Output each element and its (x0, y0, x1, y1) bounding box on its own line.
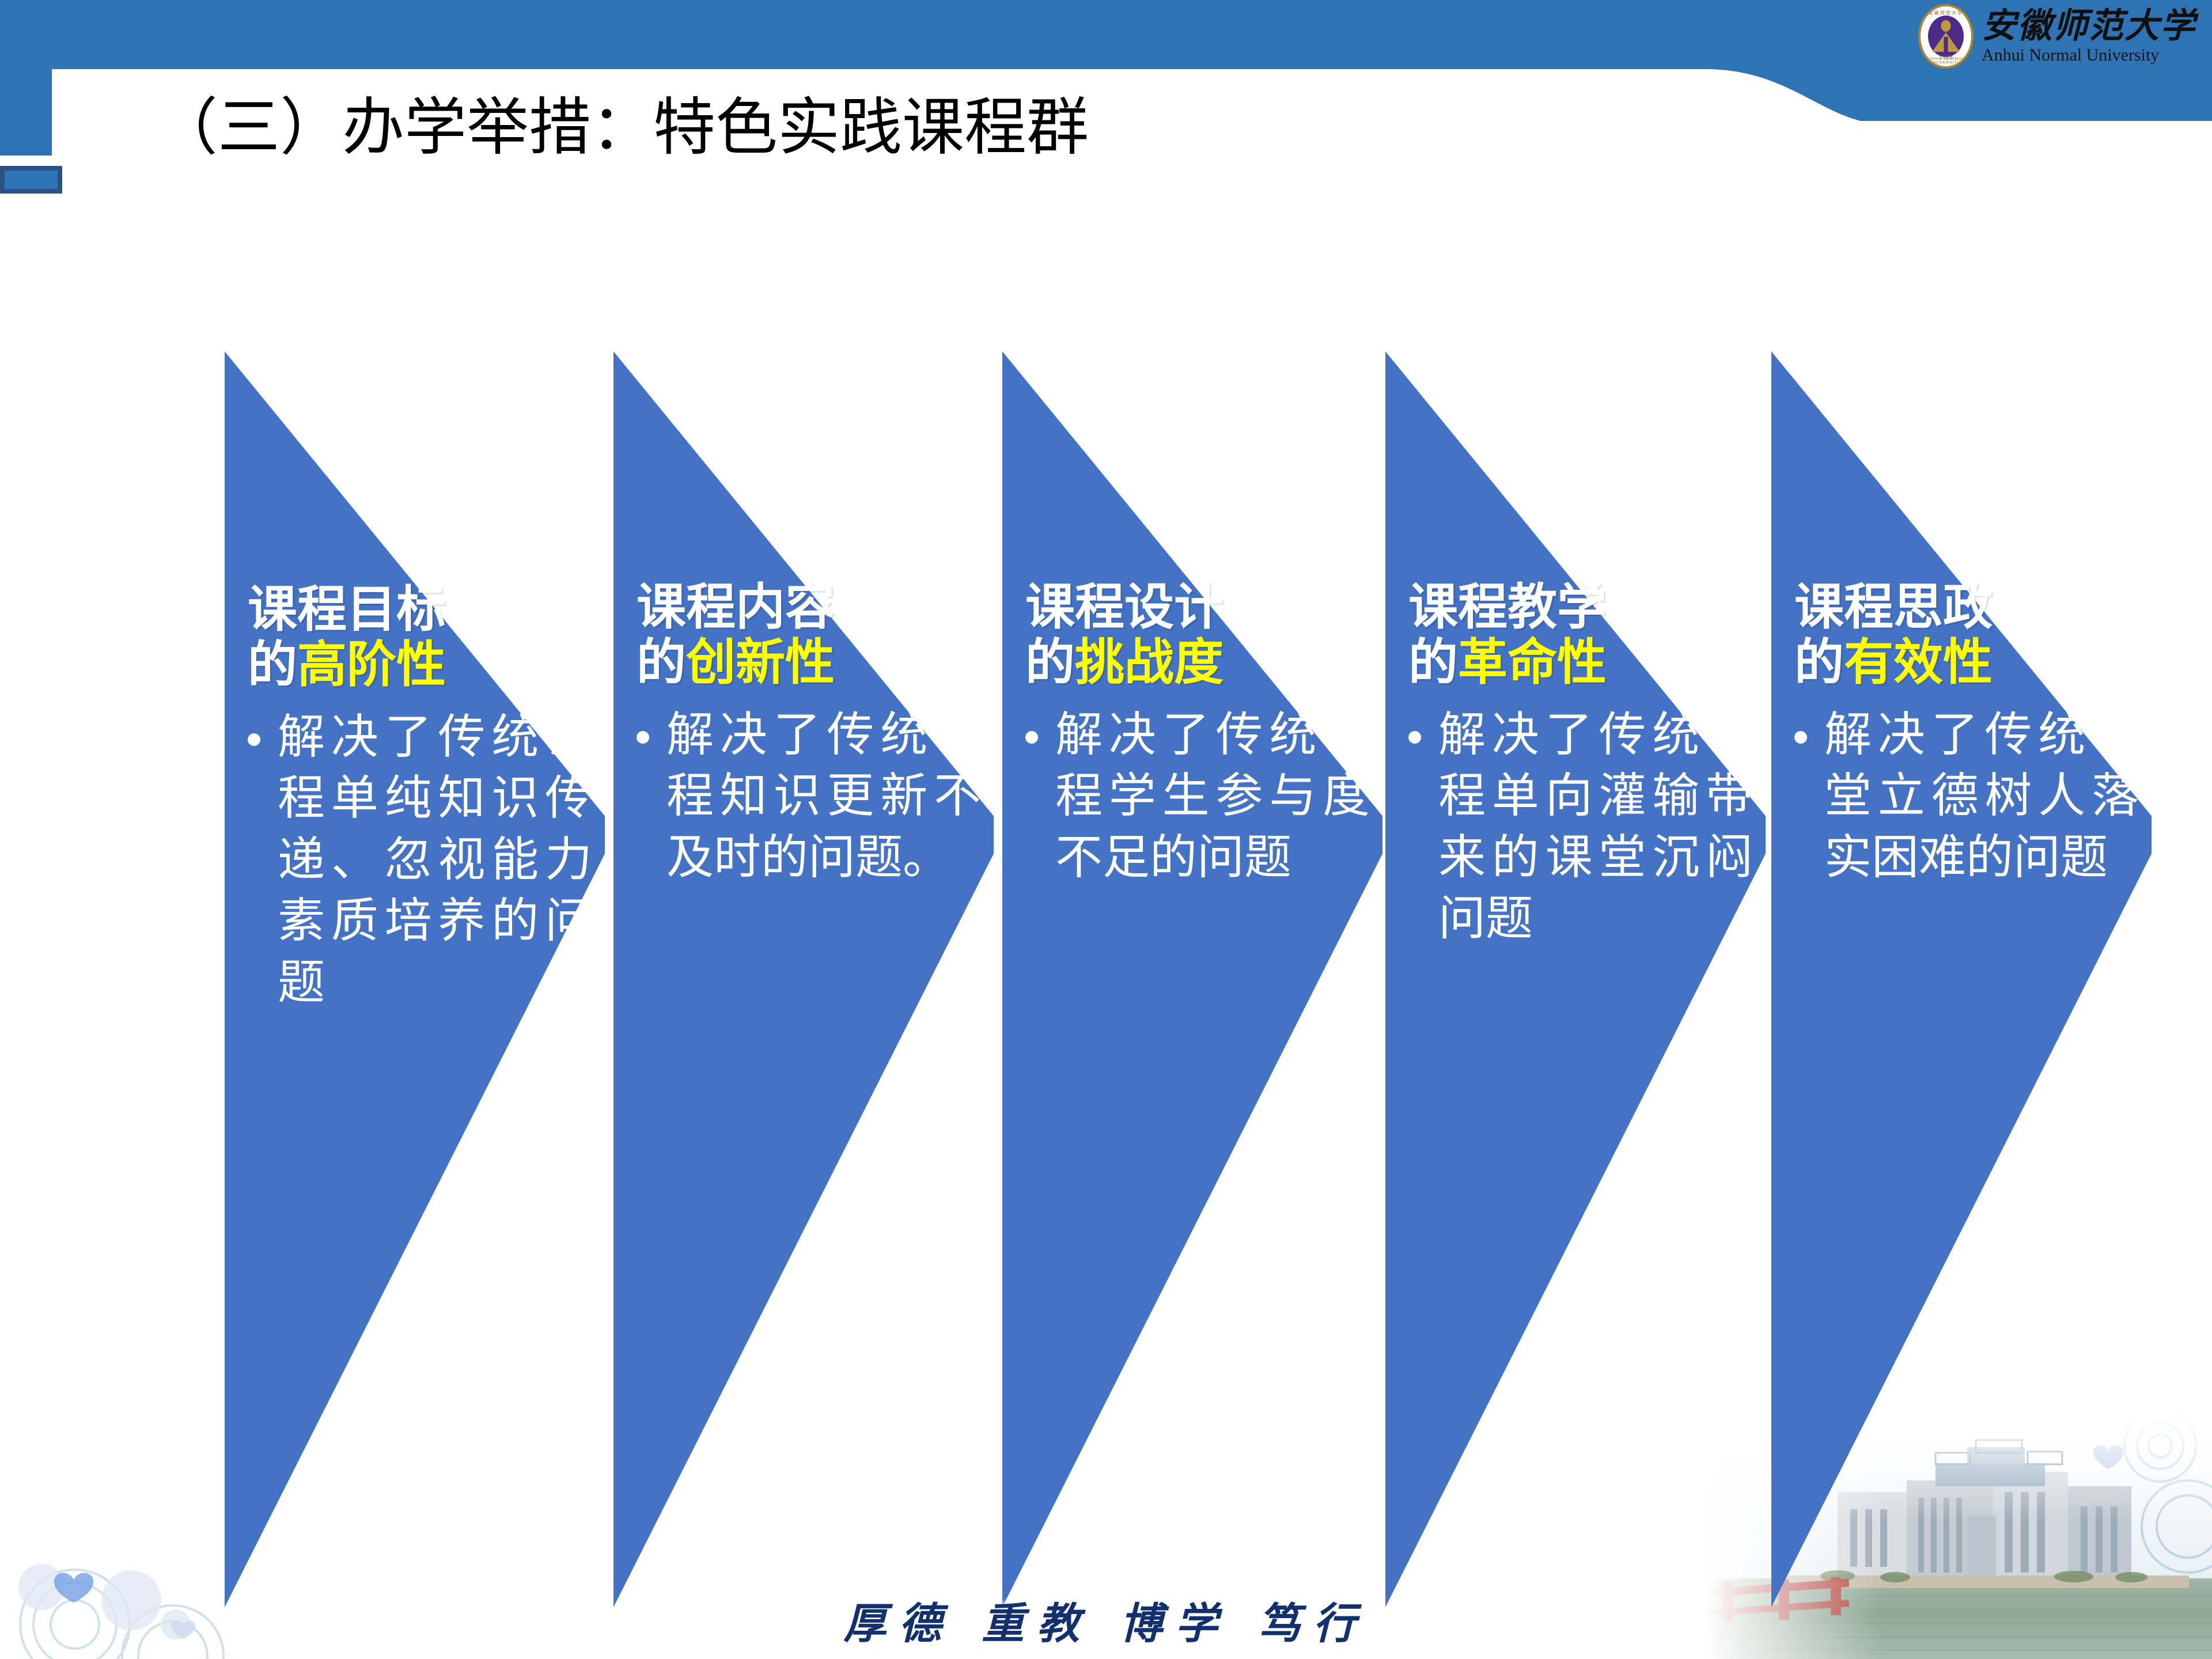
university-motto: 厚德 重教 博学 笃行 (0, 1589, 2212, 1651)
panel-2[interactable]: 课程内容的创新性 解决了传统课程知识更新不及时的问题。 (613, 351, 994, 1607)
panel-5-heading-highlight: 有效性 (1844, 634, 1993, 691)
panel-2-heading-prefix: 课程内容 (637, 578, 835, 636)
panel-3-bullet-text: 解决了传统课程学生参与度不足的问题 (1055, 704, 1370, 889)
logo-name-en: Anhui Normal University (1982, 47, 2196, 64)
panel-3-heading: 课程设计的挑战度 (1002, 579, 1382, 691)
university-crest-icon: 安徽师范大学 1928 ANHUI NORMAL UNIVERSITY (1918, 4, 1974, 69)
panel-4-heading: 课程教学的革命性 (1385, 579, 1766, 691)
panel-1-body: 解决了传统课程单纯知识传递、忽视能力素质培养的问题 (225, 707, 605, 1014)
panel-5-heading: 课程思政的有效性 (1771, 579, 2152, 691)
crest-figure-head-icon (1941, 20, 1951, 32)
slide-canvas: 安徽师范大学 1928 ANHUI NORMAL UNIVERSITY 安徽师范… (0, 0, 2212, 1659)
panel-4-body: 解决了传统课程单向灌输带来的课堂沉闷问题 (1385, 704, 1766, 950)
panel-5-bullet-text: 解决了传统课堂立德树人落实困难的问题 (1824, 704, 2139, 889)
panel-5-heading-lead: 的 (1794, 634, 1844, 691)
logo-text-block: 安徽师范大学 Anhui Normal University (1982, 9, 2196, 64)
panel-1-bullet-text: 解决了传统课程单纯知识传递、忽视能力素质培养的问题 (278, 707, 592, 1014)
panel-2-heading-lead: 的 (637, 634, 686, 691)
panel-2-body: 解决了传统课程知识更新不及时的问题。 (613, 704, 994, 889)
panel-1-heading-highlight: 高阶性 (297, 636, 446, 694)
panel-1-heading-prefix: 课程目标 (248, 581, 446, 638)
panel-4-heading-prefix: 课程教学 (1408, 578, 1607, 636)
panel-4-heading-highlight: 革命性 (1458, 634, 1607, 691)
panel-3-body: 解决了传统课程学生参与度不足的问题 (1002, 704, 1382, 889)
panel-5-body: 解决了传统课堂立德树人落实困难的问题 (1771, 704, 2152, 889)
panel-3-heading-lead: 的 (1025, 634, 1075, 691)
bullet-dot-icon (1794, 731, 1807, 744)
panel-5[interactable]: 课程思政的有效性 解决了传统课堂立德树人落实困难的问题 (1771, 351, 2152, 1607)
panel-3-heading-prefix: 课程设计 (1025, 578, 1224, 636)
bullet-dot-icon (1025, 731, 1038, 744)
panel-2-heading-highlight: 创新性 (686, 634, 835, 691)
university-logo: 安徽师范大学 1928 ANHUI NORMAL UNIVERSITY 安徽师范… (1918, 5, 2196, 68)
crest-inner-disc (1928, 16, 1964, 57)
panel-4[interactable]: 课程教学的革命性 解决了传统课程单向灌输带来的课堂沉闷问题 (1385, 351, 1766, 1607)
panel-3[interactable]: 课程设计的挑战度 解决了传统课程学生参与度不足的问题 (1002, 351, 1382, 1607)
panel-5-heading-prefix: 课程思政 (1794, 578, 1993, 636)
bullet-dot-icon (248, 733, 260, 746)
panel-1-heading-lead: 的 (248, 636, 297, 694)
crest-figure-slot-icon (1944, 37, 1948, 52)
panel-1-heading: 课程目标的高阶性 (225, 582, 605, 693)
panel-4-bullet-text: 解决了传统课程单向灌输带来的课堂沉闷问题 (1438, 704, 1753, 950)
chevron-panel-group: 课程目标的高阶性 解决了传统课程单纯知识传递、忽视能力素质培养的问题 课程内容的… (0, 0, 2212, 1659)
panel-2-bullet-text: 解决了传统课程知识更新不及时的问题。 (666, 704, 981, 889)
bullet-dot-icon (1408, 731, 1421, 744)
panel-4-heading-lead: 的 (1408, 634, 1458, 691)
crest-ring-bottom-label: ANHUI NORMAL UNIVERSITY (1921, 58, 1971, 65)
panel-2-heading: 课程内容的创新性 (613, 579, 994, 691)
bullet-dot-icon (637, 731, 649, 744)
page-title: （三）办学举措：特色实践课程群 (156, 92, 1089, 164)
panel-3-heading-highlight: 挑战度 (1075, 634, 1224, 691)
panel-1[interactable]: 课程目标的高阶性 解决了传统课程单纯知识传递、忽视能力素质培养的问题 (225, 351, 605, 1607)
logo-name-cn: 安徽师范大学 (1982, 9, 2196, 43)
